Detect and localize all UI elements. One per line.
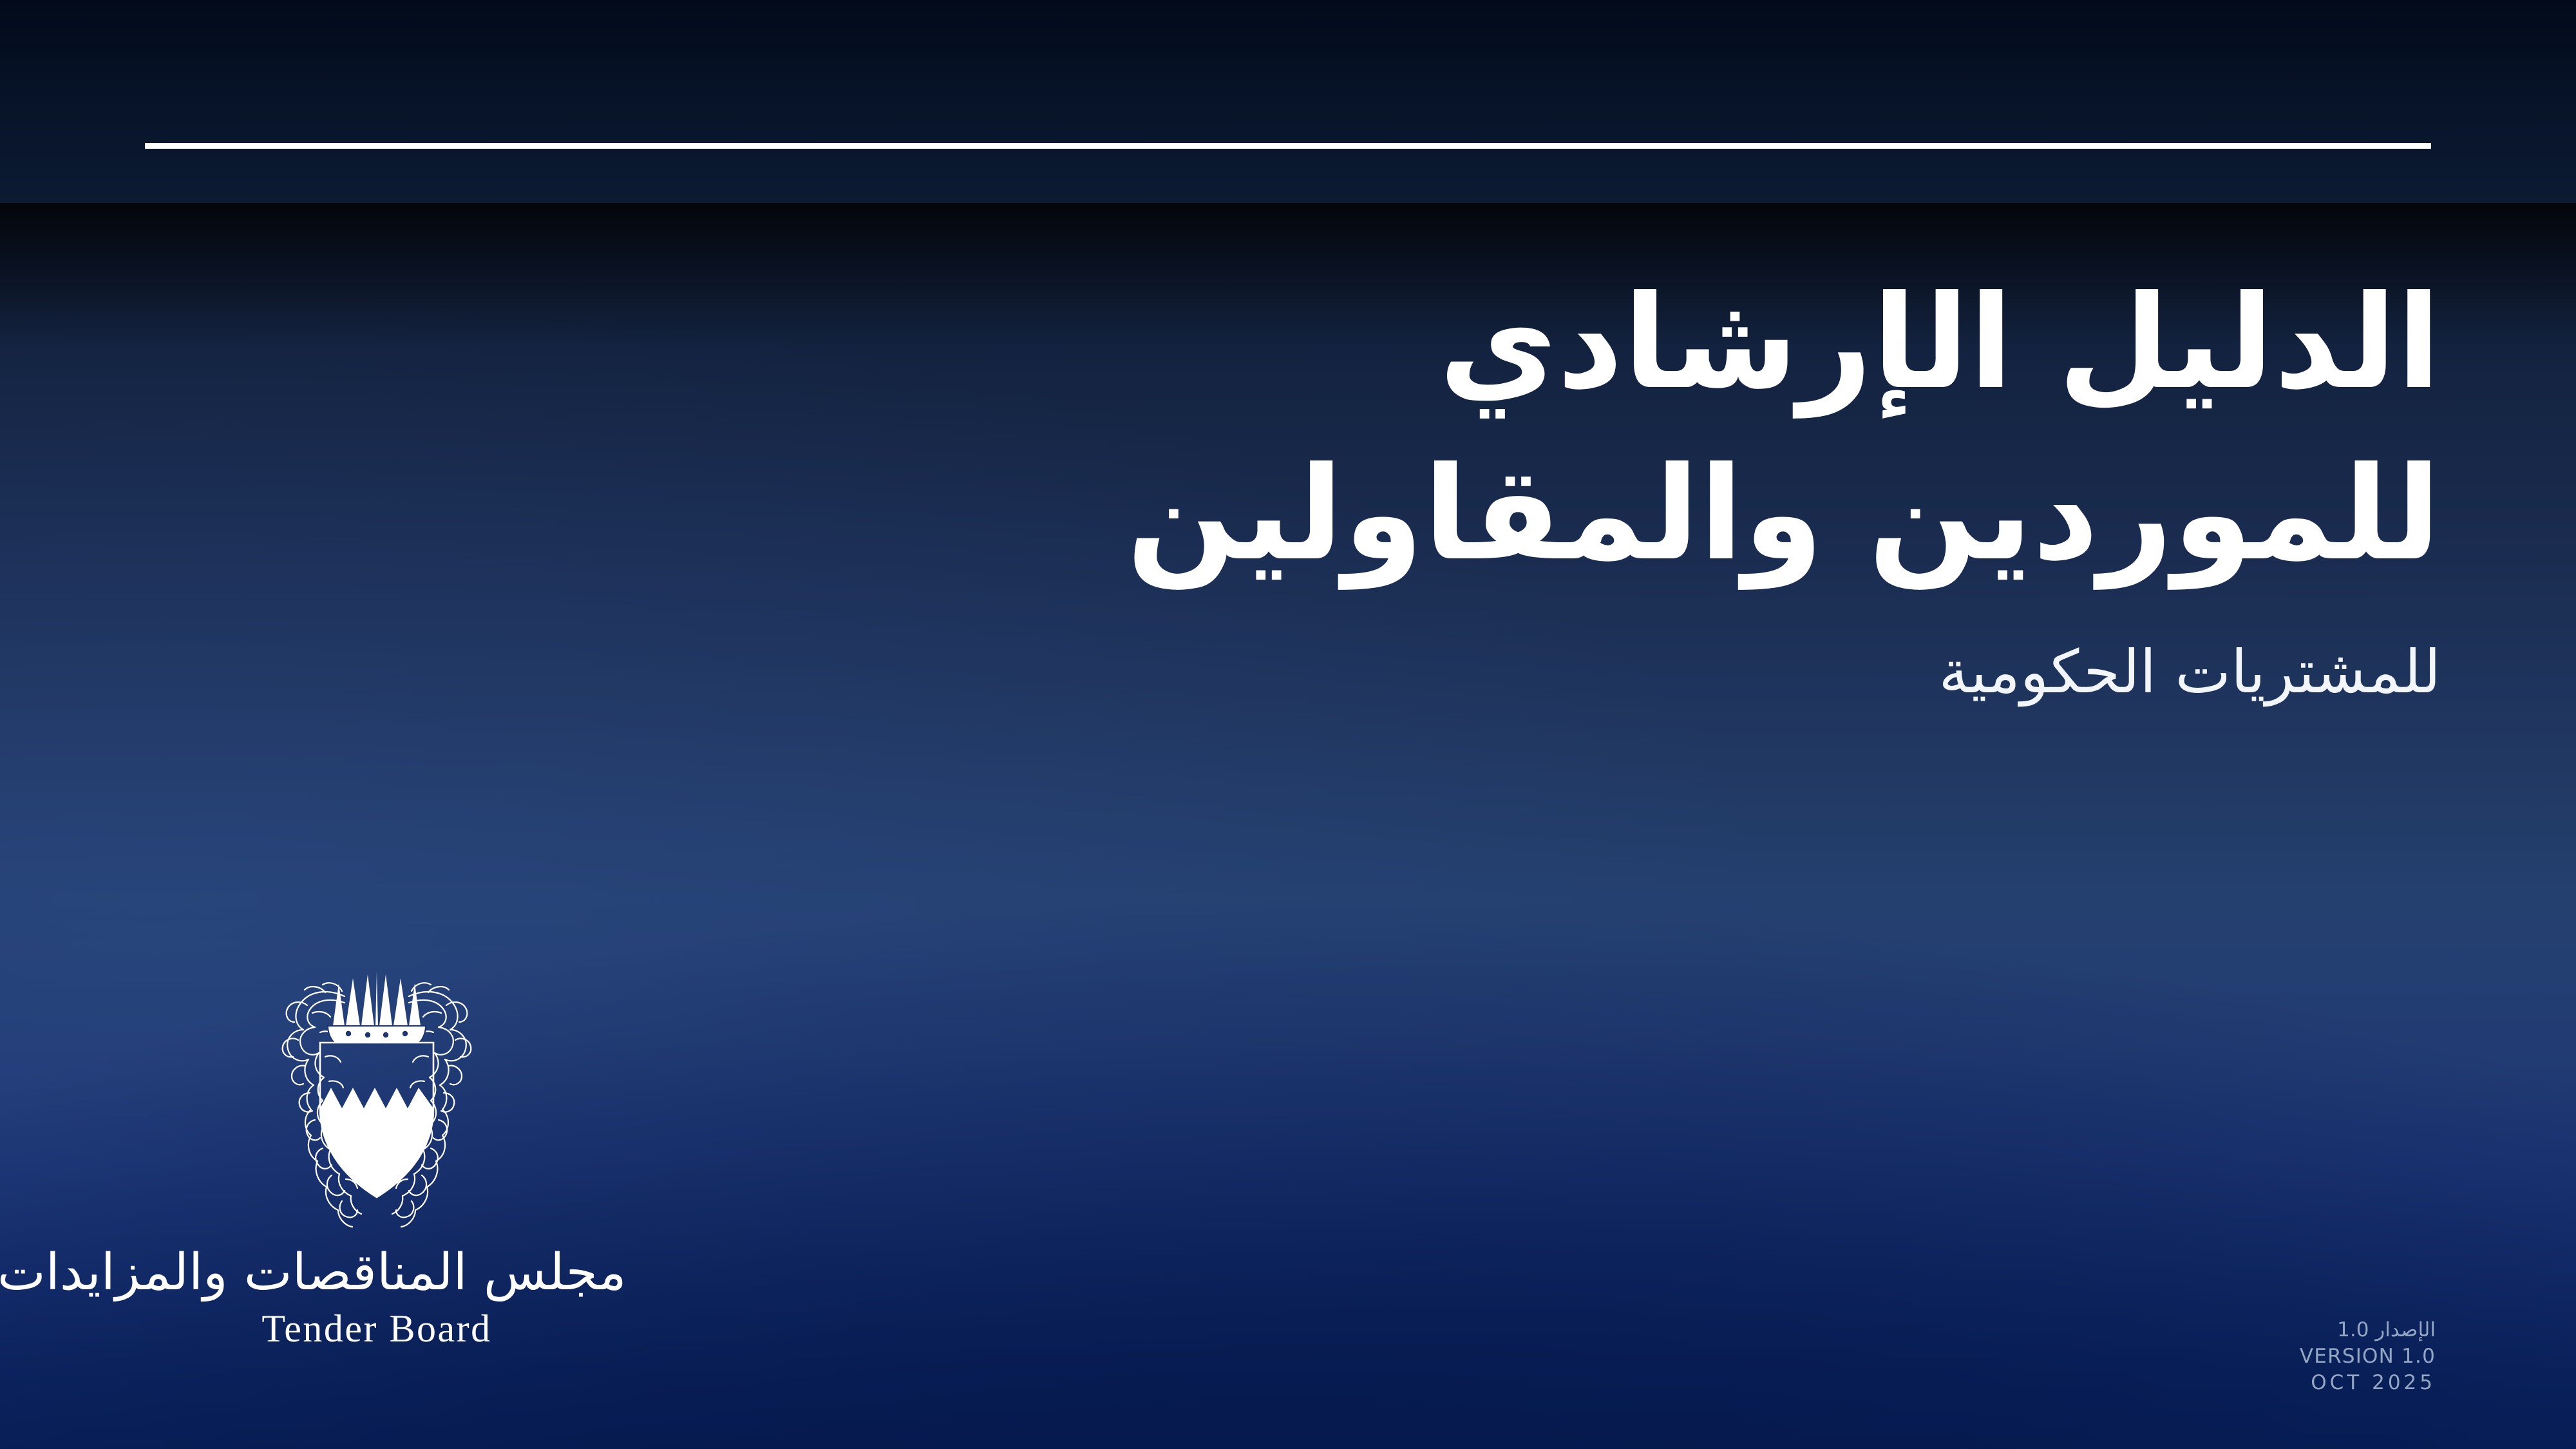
version-date: OCT 2025 xyxy=(2300,1370,2436,1396)
document-title-line-1: الدليل الإرشادي xyxy=(509,258,2441,429)
version-arabic: الإصدار 1.0 xyxy=(2300,1317,2436,1343)
title-block: الدليل الإرشادي للموردين والمقاولين للمش… xyxy=(509,258,2441,711)
cover-page: الدليل الإرشادي للموردين والمقاولين للمش… xyxy=(0,0,2576,1449)
version-block: الإصدار 1.0 VERSION 1.0 OCT 2025 xyxy=(2300,1317,2436,1396)
shield-icon xyxy=(320,1043,433,1198)
header-rule xyxy=(145,143,2431,149)
version-english: VERSION 1.0 xyxy=(2300,1343,2436,1370)
logo-english-name: Tender Board xyxy=(132,1309,621,1348)
tender-board-logo: مجلس المناقصات والمزايدات Tender Board xyxy=(132,963,621,1348)
bahrain-crest-icon xyxy=(248,963,506,1240)
document-subtitle: للمشتريات الحكومية xyxy=(509,634,2441,711)
crown-icon xyxy=(328,972,426,1043)
document-title-line-2: للموردين والمقاولين xyxy=(509,429,2441,600)
logo-arabic-name: مجلس المناقصات والمزايدات xyxy=(127,1247,626,1298)
